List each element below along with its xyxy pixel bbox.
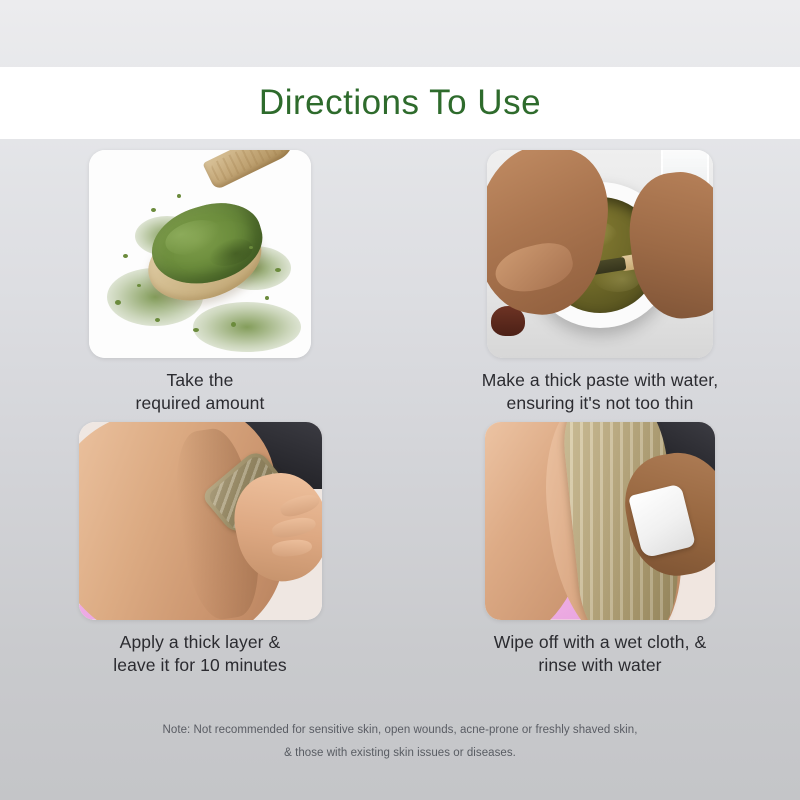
powder-speck (115, 300, 121, 305)
apply-paste-illustration (79, 422, 322, 620)
step-1-caption: Take the required amount (136, 369, 265, 416)
step-card-3: Apply a thick layer & leave it for 10 mi… (0, 422, 400, 678)
powder-speck (265, 296, 269, 300)
page-title: Directions To Use (259, 83, 541, 123)
powder-speck (151, 208, 156, 212)
step-3-caption: Apply a thick layer & leave it for 10 mi… (113, 631, 287, 678)
powder-speck (177, 194, 181, 198)
powder-speck (231, 322, 236, 327)
powder-speck (249, 246, 253, 249)
step-card-2: Make a thick paste with water, ensuring … (400, 150, 800, 416)
spoon-handle (202, 150, 301, 190)
step-card-1: Take the required amount (0, 150, 400, 416)
step-1-image (89, 150, 311, 358)
title-band: Directions To Use (0, 67, 800, 139)
wipe-off-illustration (485, 422, 715, 620)
step-2-caption: Make a thick paste with water, ensuring … (482, 369, 718, 416)
step-card-4: Wipe off with a wet cloth, & rinse with … (400, 422, 800, 678)
step-4-caption: Wipe off with a wet cloth, & rinse with … (494, 631, 707, 678)
directions-to-use-poster: Directions To Use (0, 0, 800, 800)
step-4-image (485, 422, 715, 620)
step-2-image (487, 150, 713, 358)
paste-bowl-illustration (487, 150, 713, 358)
powder-speck (275, 268, 281, 272)
step-3-image (79, 422, 322, 620)
powder-speck (193, 328, 199, 332)
powder-speck (123, 254, 128, 258)
steps-grid: Take the required amount (0, 150, 800, 677)
disclaimer-note: Note: Not recommended for sensitive skin… (60, 719, 740, 764)
powder-speck (155, 318, 160, 322)
powder-spoon-illustration (89, 150, 311, 358)
powder-speck (137, 284, 141, 287)
powder-dust (193, 302, 301, 352)
